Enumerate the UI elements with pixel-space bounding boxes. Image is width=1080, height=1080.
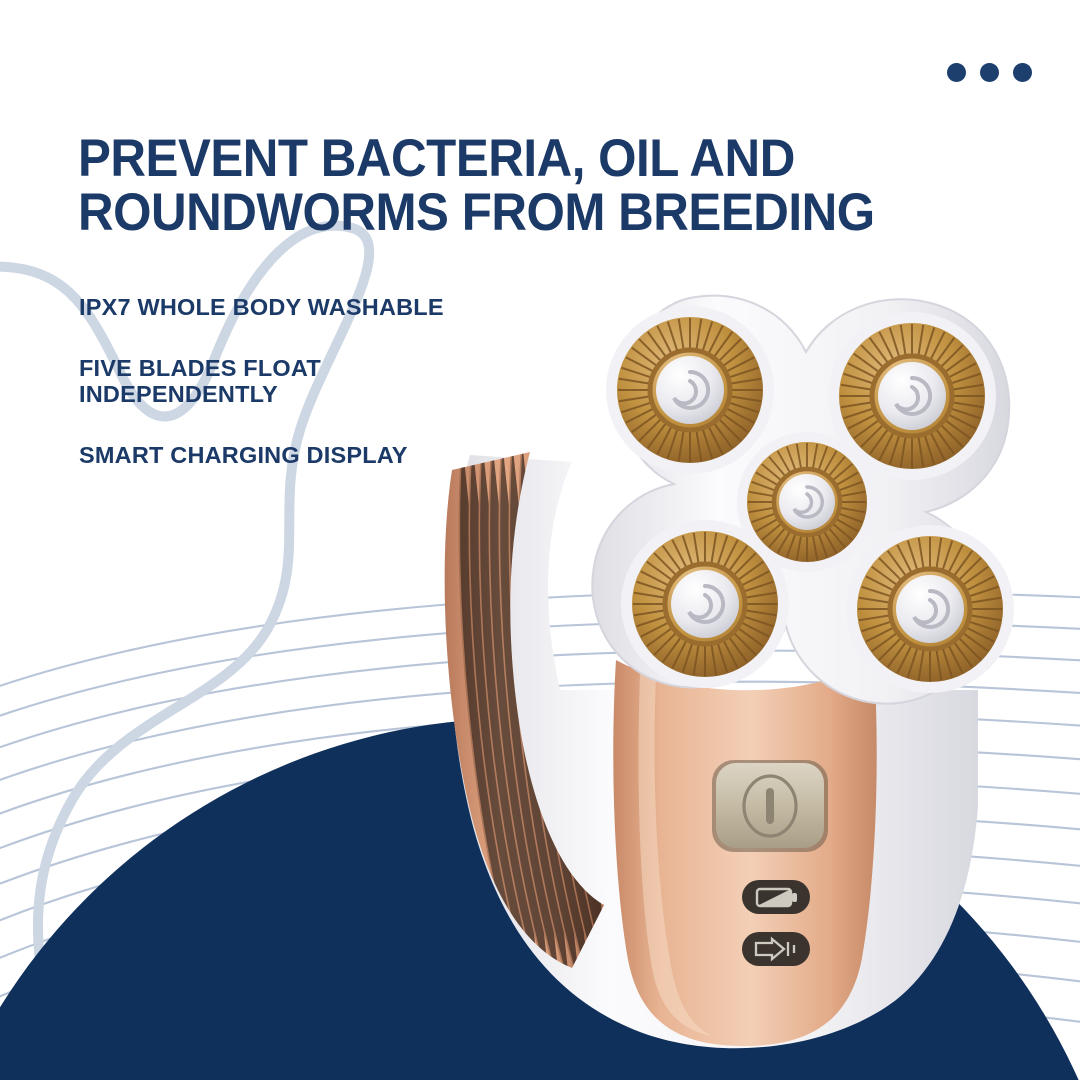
plug-icon [756, 939, 794, 959]
feature-list: IPX7 WHOLE BODY WASHABLE FIVE BLADES FLO… [79, 294, 549, 468]
blade-head-bottom-right [846, 525, 1014, 693]
power-icon [744, 776, 796, 836]
blade-head-bottom-left [621, 520, 789, 688]
decorative-dots [947, 63, 1032, 82]
shaver-head-housing [592, 296, 1009, 704]
charging-indicator [742, 932, 810, 966]
blade-head-top-right [828, 312, 996, 480]
dot-1 [947, 63, 966, 82]
power-button[interactable] [712, 760, 828, 852]
dot-3 [1013, 63, 1032, 82]
blade-head-top-left [606, 306, 774, 474]
grip-ribs [459, 440, 610, 990]
ribbed-grip-panel [445, 452, 604, 968]
blade-head-center [737, 432, 877, 572]
dot-2 [980, 63, 999, 82]
feature-item-3: SMART CHARGING DISPLAY [79, 442, 549, 469]
shaver-white-shell [449, 455, 978, 1048]
page-title: PREVENT BACTERIA, OIL AND ROUNDWORMS FRO… [78, 132, 875, 241]
feature-item-2: FIVE BLADES FLOAT INDEPENDENTLY [79, 355, 549, 408]
shaver-body [613, 660, 876, 1046]
battery-icon [757, 889, 797, 906]
battery-indicator [742, 880, 810, 914]
feature-item-1: IPX7 WHOLE BODY WASHABLE [79, 294, 549, 321]
poster-canvas: PREVENT BACTERIA, OIL AND ROUNDWORMS FRO… [0, 0, 1080, 1080]
body-highlight [639, 672, 713, 1036]
